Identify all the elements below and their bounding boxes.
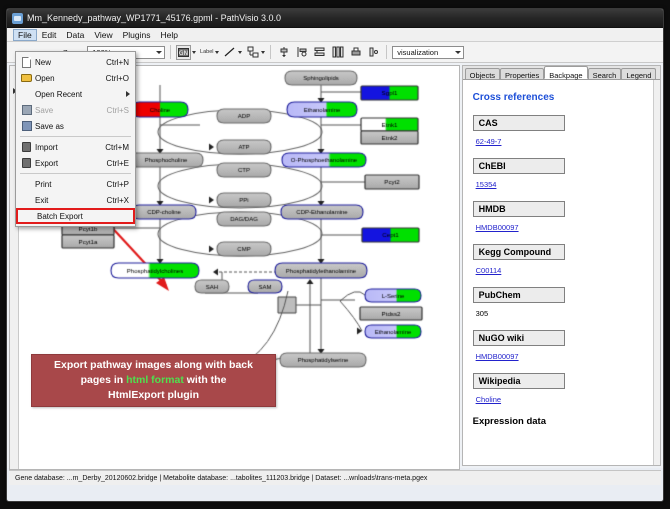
- menu-item-import-accel: Ctrl+M: [105, 143, 135, 152]
- menu-item-open-label: Open: [35, 74, 106, 83]
- db-row-cas: CAS 62-49-7: [473, 115, 650, 149]
- menu-item-batch-export[interactable]: Batch Export: [16, 208, 135, 224]
- tab-properties[interactable]: Properties: [500, 68, 544, 79]
- db-row-chebi: ChEBI 15354: [473, 158, 650, 192]
- db-row-nugo: NuGO wiki HMDB00097: [473, 330, 650, 364]
- menu-file[interactable]: File: [13, 29, 37, 41]
- align-center-icon[interactable]: [276, 45, 291, 60]
- menu-item-export-label: Export: [35, 159, 107, 168]
- callout-line-3: HtmlExport plugin: [32, 388, 275, 403]
- menu-item-new-accel: Ctrl+N: [106, 58, 135, 67]
- new-document-icon: [18, 57, 35, 68]
- menu-item-print-accel: Ctrl+P: [107, 180, 135, 189]
- db-value-wikipedia[interactable]: Choline: [476, 395, 501, 404]
- menu-item-open-recent[interactable]: Open Recent: [16, 86, 135, 102]
- callout-line-1: Export pathway images along with back: [32, 358, 275, 373]
- print-icon[interactable]: [348, 45, 363, 60]
- menu-bar: File Edit Data View Plugins Help: [7, 28, 663, 42]
- window-title: Mm_Kennedy_pathway_WP1771_45176.gpml - P…: [27, 13, 281, 23]
- gene-product-tool[interactable]: GN: [176, 45, 196, 60]
- menu-item-new[interactable]: New Ctrl+N: [16, 54, 135, 70]
- db-value-hmdb[interactable]: HMDB00097: [476, 223, 519, 232]
- db-value-chebi[interactable]: 15354: [476, 180, 497, 189]
- menu-plugins[interactable]: Plugins: [118, 29, 156, 41]
- interaction-icon[interactable]: [245, 45, 260, 60]
- db-name-cas: CAS: [473, 115, 565, 131]
- blank-icon: [18, 195, 35, 205]
- interaction-tool[interactable]: [245, 45, 265, 60]
- menu-item-exit-label: Exit: [35, 196, 107, 205]
- label-tool[interactable]: Label: [199, 45, 219, 60]
- chevron-down-icon: [156, 51, 162, 54]
- menu-item-export-accel: Ctrl+E: [107, 159, 135, 168]
- db-name-nugo: NuGO wiki: [473, 330, 565, 346]
- db-row-kegg: Kegg Compound C00114: [473, 244, 650, 278]
- backpage-content: Cross references CAS 62-49-7 ChEBI 15354…: [463, 80, 660, 465]
- menu-item-save-as[interactable]: Save as: [16, 118, 135, 134]
- chevron-down-icon[interactable]: [192, 51, 196, 54]
- chevron-down-icon[interactable]: [261, 51, 265, 54]
- expression-data-title: Expression data: [473, 416, 650, 427]
- status-text: Gene database: ...m_Derby_20120602.bridg…: [13, 475, 429, 482]
- db-row-wikipedia: Wikipedia Choline: [473, 373, 650, 407]
- title-bar: Mm_Kennedy_pathway_WP1771_45176.gpml - P…: [7, 9, 663, 28]
- menu-separator: [20, 136, 131, 137]
- menu-data[interactable]: Data: [61, 29, 89, 41]
- annotation-callout: Export pathway images along with back pa…: [31, 354, 276, 407]
- menu-item-open[interactable]: Open Ctrl+O: [16, 70, 135, 86]
- distribute-icon[interactable]: [312, 45, 327, 60]
- callout-line-2-post: with the: [184, 374, 227, 386]
- line-icon[interactable]: [222, 45, 237, 60]
- menu-item-save-as-label: Save as: [35, 122, 129, 131]
- chevron-down-icon[interactable]: [238, 51, 242, 54]
- visualization-value: visualization: [397, 48, 438, 57]
- callout-line-2: pages in html format with the: [32, 373, 275, 388]
- menu-item-open-recent-label: Open Recent: [35, 90, 135, 99]
- tab-backpage[interactable]: Backpage: [544, 66, 587, 79]
- visualization-select[interactable]: visualization: [392, 46, 464, 59]
- db-value-nugo[interactable]: HMDB00097: [476, 352, 519, 361]
- db-name-wikipedia: Wikipedia: [473, 373, 565, 389]
- menu-item-open-accel: Ctrl+O: [106, 74, 135, 83]
- import-icon: [18, 142, 35, 152]
- toolbar-separator: [170, 45, 171, 59]
- tab-legend[interactable]: Legend: [621, 68, 656, 79]
- menu-edit[interactable]: Edit: [37, 29, 62, 41]
- open-folder-icon: [18, 74, 35, 82]
- menu-item-print[interactable]: Print Ctrl+P: [16, 176, 135, 192]
- align-left-icon[interactable]: [294, 45, 309, 60]
- db-value-pubchem: 305: [476, 309, 489, 318]
- menu-item-save-label: Save: [35, 106, 107, 115]
- pathvisio-icon: [12, 13, 23, 24]
- menu-item-new-label: New: [35, 58, 106, 67]
- status-bar: Gene database: ...m_Derby_20120602.bridg…: [9, 470, 661, 485]
- cross-references-title: Cross references: [473, 92, 650, 103]
- db-name-hmdb: HMDB: [473, 201, 565, 217]
- stack-icon[interactable]: [330, 45, 345, 60]
- db-name-pubchem: PubChem: [473, 287, 565, 303]
- menu-item-exit-accel: Ctrl+X: [107, 196, 135, 205]
- label-icon[interactable]: Label: [199, 45, 214, 60]
- menu-separator: [20, 173, 131, 174]
- export-icon: [18, 158, 35, 168]
- callout-line-2-pre: pages in: [81, 374, 127, 386]
- menu-item-import-label: Import: [35, 143, 105, 152]
- db-value-kegg[interactable]: C00114: [476, 266, 502, 275]
- menu-item-save-accel: Ctrl+S: [107, 106, 135, 115]
- menu-item-print-label: Print: [35, 180, 107, 189]
- svg-text:GN: GN: [179, 50, 188, 57]
- menu-item-import[interactable]: Import Ctrl+M: [16, 139, 135, 155]
- callout-highlight: html format: [126, 374, 184, 386]
- db-name-chebi: ChEBI: [473, 158, 565, 174]
- toolbar-separator: [386, 45, 387, 59]
- line-tool[interactable]: [222, 45, 242, 60]
- side-panel-tabs: Objects Properties Backpage Search Legen…: [463, 66, 660, 80]
- menu-help[interactable]: Help: [156, 29, 183, 41]
- menu-item-batch-export-label: Batch Export: [37, 212, 133, 221]
- submenu-arrow-icon: [126, 91, 130, 97]
- tab-objects[interactable]: Objects: [465, 68, 500, 79]
- db-name-kegg: Kegg Compound: [473, 244, 565, 260]
- side-panel: Objects Properties Backpage Search Legen…: [462, 65, 661, 466]
- order-icon[interactable]: [366, 45, 381, 60]
- menu-item-save: Save Ctrl+S: [16, 102, 135, 118]
- db-row-pubchem: PubChem 305: [473, 287, 650, 321]
- pathvisio-window: Mm_Kennedy_pathway_WP1771_45176.gpml - P…: [6, 8, 664, 502]
- chevron-down-icon: [455, 51, 461, 54]
- tab-search[interactable]: Search: [588, 68, 622, 79]
- side-panel-scrollbar[interactable]: [653, 80, 660, 465]
- gene-product-icon[interactable]: GN: [176, 45, 191, 60]
- save-icon: [18, 105, 35, 115]
- blank-icon: [20, 211, 37, 221]
- menu-item-export[interactable]: Export Ctrl+E: [16, 155, 135, 171]
- blank-icon: [18, 179, 35, 189]
- file-menu-popup[interactable]: New Ctrl+N Open Ctrl+O Open Recent Save …: [15, 51, 136, 227]
- db-row-hmdb: HMDB HMDB00097: [473, 201, 650, 235]
- blank-icon: [18, 89, 35, 99]
- chevron-down-icon[interactable]: [215, 51, 219, 54]
- menu-item-exit[interactable]: Exit Ctrl+X: [16, 192, 135, 208]
- menu-view[interactable]: View: [89, 29, 117, 41]
- save-as-icon: [18, 121, 35, 131]
- db-value-cas[interactable]: 62-49-7: [476, 137, 502, 146]
- toolbar-separator: [270, 45, 271, 59]
